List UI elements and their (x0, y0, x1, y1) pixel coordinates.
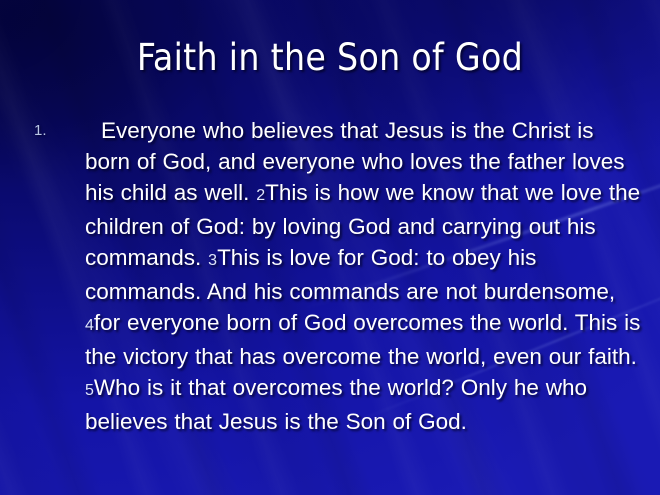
presentation-slide: Faith in the Son of God 1. Everyone who … (0, 0, 660, 495)
verse-number: 3 (208, 252, 217, 269)
scripture-paragraph: Everyone who believes that Jesus is the … (85, 115, 642, 437)
slide-body: 1. Everyone who believes that Jesus is t… (34, 115, 642, 437)
list-item-number: 1. (34, 115, 85, 146)
verse-number: 2 (256, 187, 265, 204)
verse-number: 5 (85, 382, 94, 399)
paragraph-text: for everyone born of God overcomes the w… (85, 310, 640, 369)
verse-number: 4 (85, 317, 94, 334)
slide-title: Faith in the Son of God (0, 36, 660, 79)
paragraph-text: Who is it that overcomes the world? Only… (85, 375, 587, 434)
